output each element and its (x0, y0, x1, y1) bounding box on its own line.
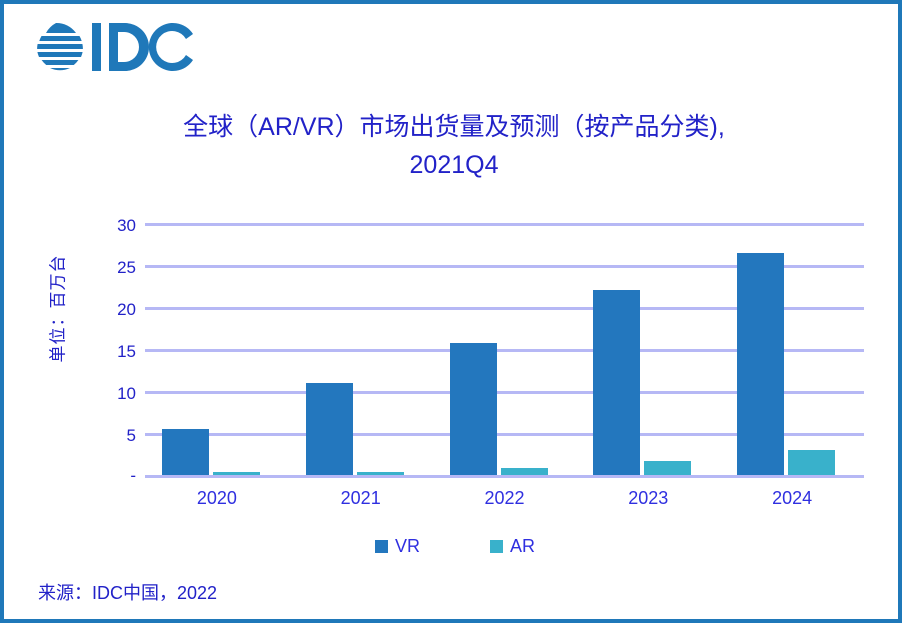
y-axis-title: 单位：百万台 (44, 229, 69, 389)
legend-label-ar: AR (510, 537, 535, 555)
bar-vr-2022 (450, 343, 497, 475)
y-tick-20: 20 (90, 301, 136, 318)
bar-vr-2023 (593, 290, 640, 475)
bar-ar-2023 (644, 461, 691, 475)
x-tick-2024: 2024 (732, 488, 852, 509)
bar-ar-2022 (501, 468, 548, 475)
bar-vr-2020 (162, 429, 209, 475)
bar-vr-2024 (737, 253, 784, 475)
y-tick-15: 15 (90, 343, 136, 360)
y-axis-ticks: 30 25 20 15 10 5 - (86, 4, 136, 623)
x-tick-2020: 2020 (157, 488, 277, 509)
x-tick-2023: 2023 (588, 488, 708, 509)
y-tick-5: 5 (90, 427, 136, 444)
chart-legend: VRAR (4, 537, 902, 555)
legend-item-vr[interactable]: VR (375, 537, 420, 555)
legend-swatch-vr-icon (375, 540, 388, 553)
bar-ar-2020 (213, 472, 260, 475)
bar-vr-2021 (306, 383, 353, 475)
x-tick-2021: 2021 (301, 488, 421, 509)
x-tick-2022: 2022 (445, 488, 565, 509)
bar-ar-2024 (788, 450, 835, 475)
legend-label-vr: VR (395, 537, 420, 555)
y-tick-25: 25 (90, 259, 136, 276)
chart-page: 全球（AR/VR）市场出货量及预测（按产品分类), 2021Q4 单位：百万台 … (0, 0, 902, 623)
chart-plot-area: 单位：百万台 30 25 20 15 10 5 - 20202021202220… (4, 4, 902, 623)
y-tick-0: - (90, 467, 136, 484)
y-tick-30: 30 (90, 217, 136, 234)
bar-group (145, 4, 864, 623)
y-tick-10: 10 (90, 385, 136, 402)
bar-ar-2021 (357, 472, 404, 475)
legend-item-ar[interactable]: AR (490, 537, 535, 555)
legend-swatch-ar-icon (490, 540, 503, 553)
source-note: 来源：IDC中国，2022 (38, 579, 217, 605)
